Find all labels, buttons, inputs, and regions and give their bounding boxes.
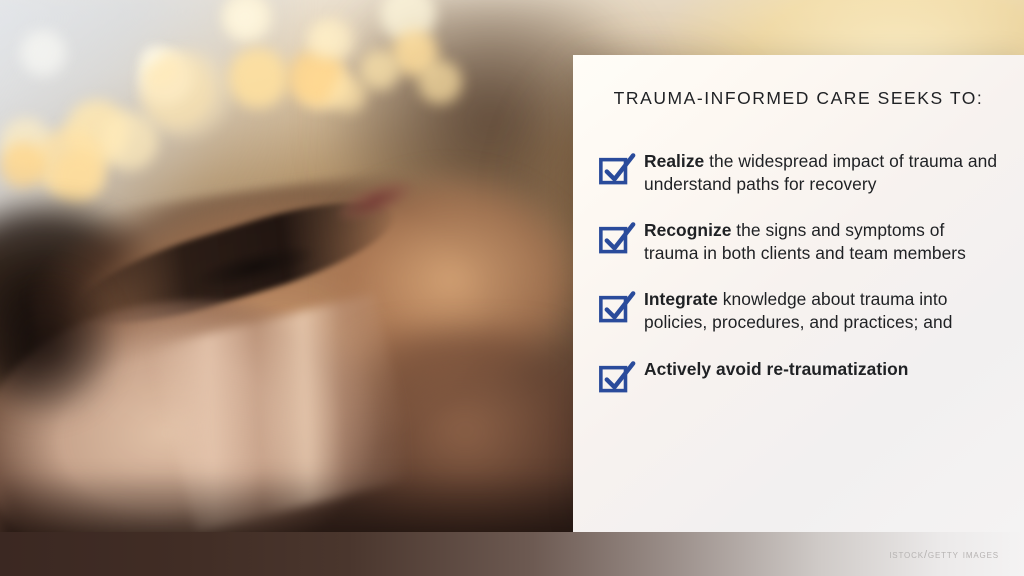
list-item: Integrate knowledge about trauma into po…	[598, 288, 1003, 333]
checkbox-cell	[598, 288, 644, 324]
list-item: Realize the widespread impact of trauma …	[598, 150, 1003, 195]
info-panel: TRAUMA-INFORMED CARE SEEKS TO: Realize t…	[573, 55, 1024, 532]
shadow-left	[0, 270, 150, 420]
page-title: TRAUMA-INFORMED CARE SEEKS TO:	[573, 88, 1024, 109]
checkbox-checked-icon	[598, 290, 636, 324]
checkbox-checked-icon	[598, 221, 636, 255]
list-item-text: Realize the widespread impact of trauma …	[644, 150, 1003, 195]
list-item-lead: Realize	[644, 151, 704, 171]
checkbox-checked-icon	[598, 152, 636, 186]
slide-root: TRAUMA-INFORMED CARE SEEKS TO: Realize t…	[0, 0, 1024, 576]
bullet-list: Realize the widespread impact of trauma …	[598, 150, 1003, 394]
checkbox-cell	[598, 219, 644, 255]
list-item: Recognize the signs and symptoms of trau…	[598, 219, 1003, 264]
bokeh-light	[418, 60, 462, 104]
list-item-text: Recognize the signs and symptoms of trau…	[644, 219, 1003, 264]
bokeh-light	[330, 76, 366, 112]
bokeh-light	[52, 150, 104, 202]
bokeh-light	[228, 48, 288, 108]
bokeh-light	[20, 30, 66, 76]
bokeh-light	[228, 0, 262, 34]
bokeh-light	[140, 48, 230, 138]
bottom-gradient-strip	[0, 532, 1024, 576]
list-item-lead: Recognize	[644, 220, 731, 240]
checkbox-cell	[598, 150, 644, 186]
list-item-lead: Actively avoid re-traumatization	[644, 359, 908, 379]
bokeh-light	[0, 142, 46, 188]
checkbox-cell	[598, 358, 644, 394]
list-item-text: Actively avoid re-traumatization	[644, 358, 1003, 381]
bokeh-light	[360, 50, 400, 90]
list-item-text: Integrate knowledge about trauma into po…	[644, 288, 1003, 333]
bokeh-light	[308, 24, 342, 58]
list-item: Actively avoid re-traumatization	[598, 358, 1003, 394]
list-item-lead: Integrate	[644, 289, 718, 309]
checkbox-checked-icon	[598, 360, 636, 394]
image-credit: ISTOCK/GETTY IMAGES	[889, 549, 999, 561]
